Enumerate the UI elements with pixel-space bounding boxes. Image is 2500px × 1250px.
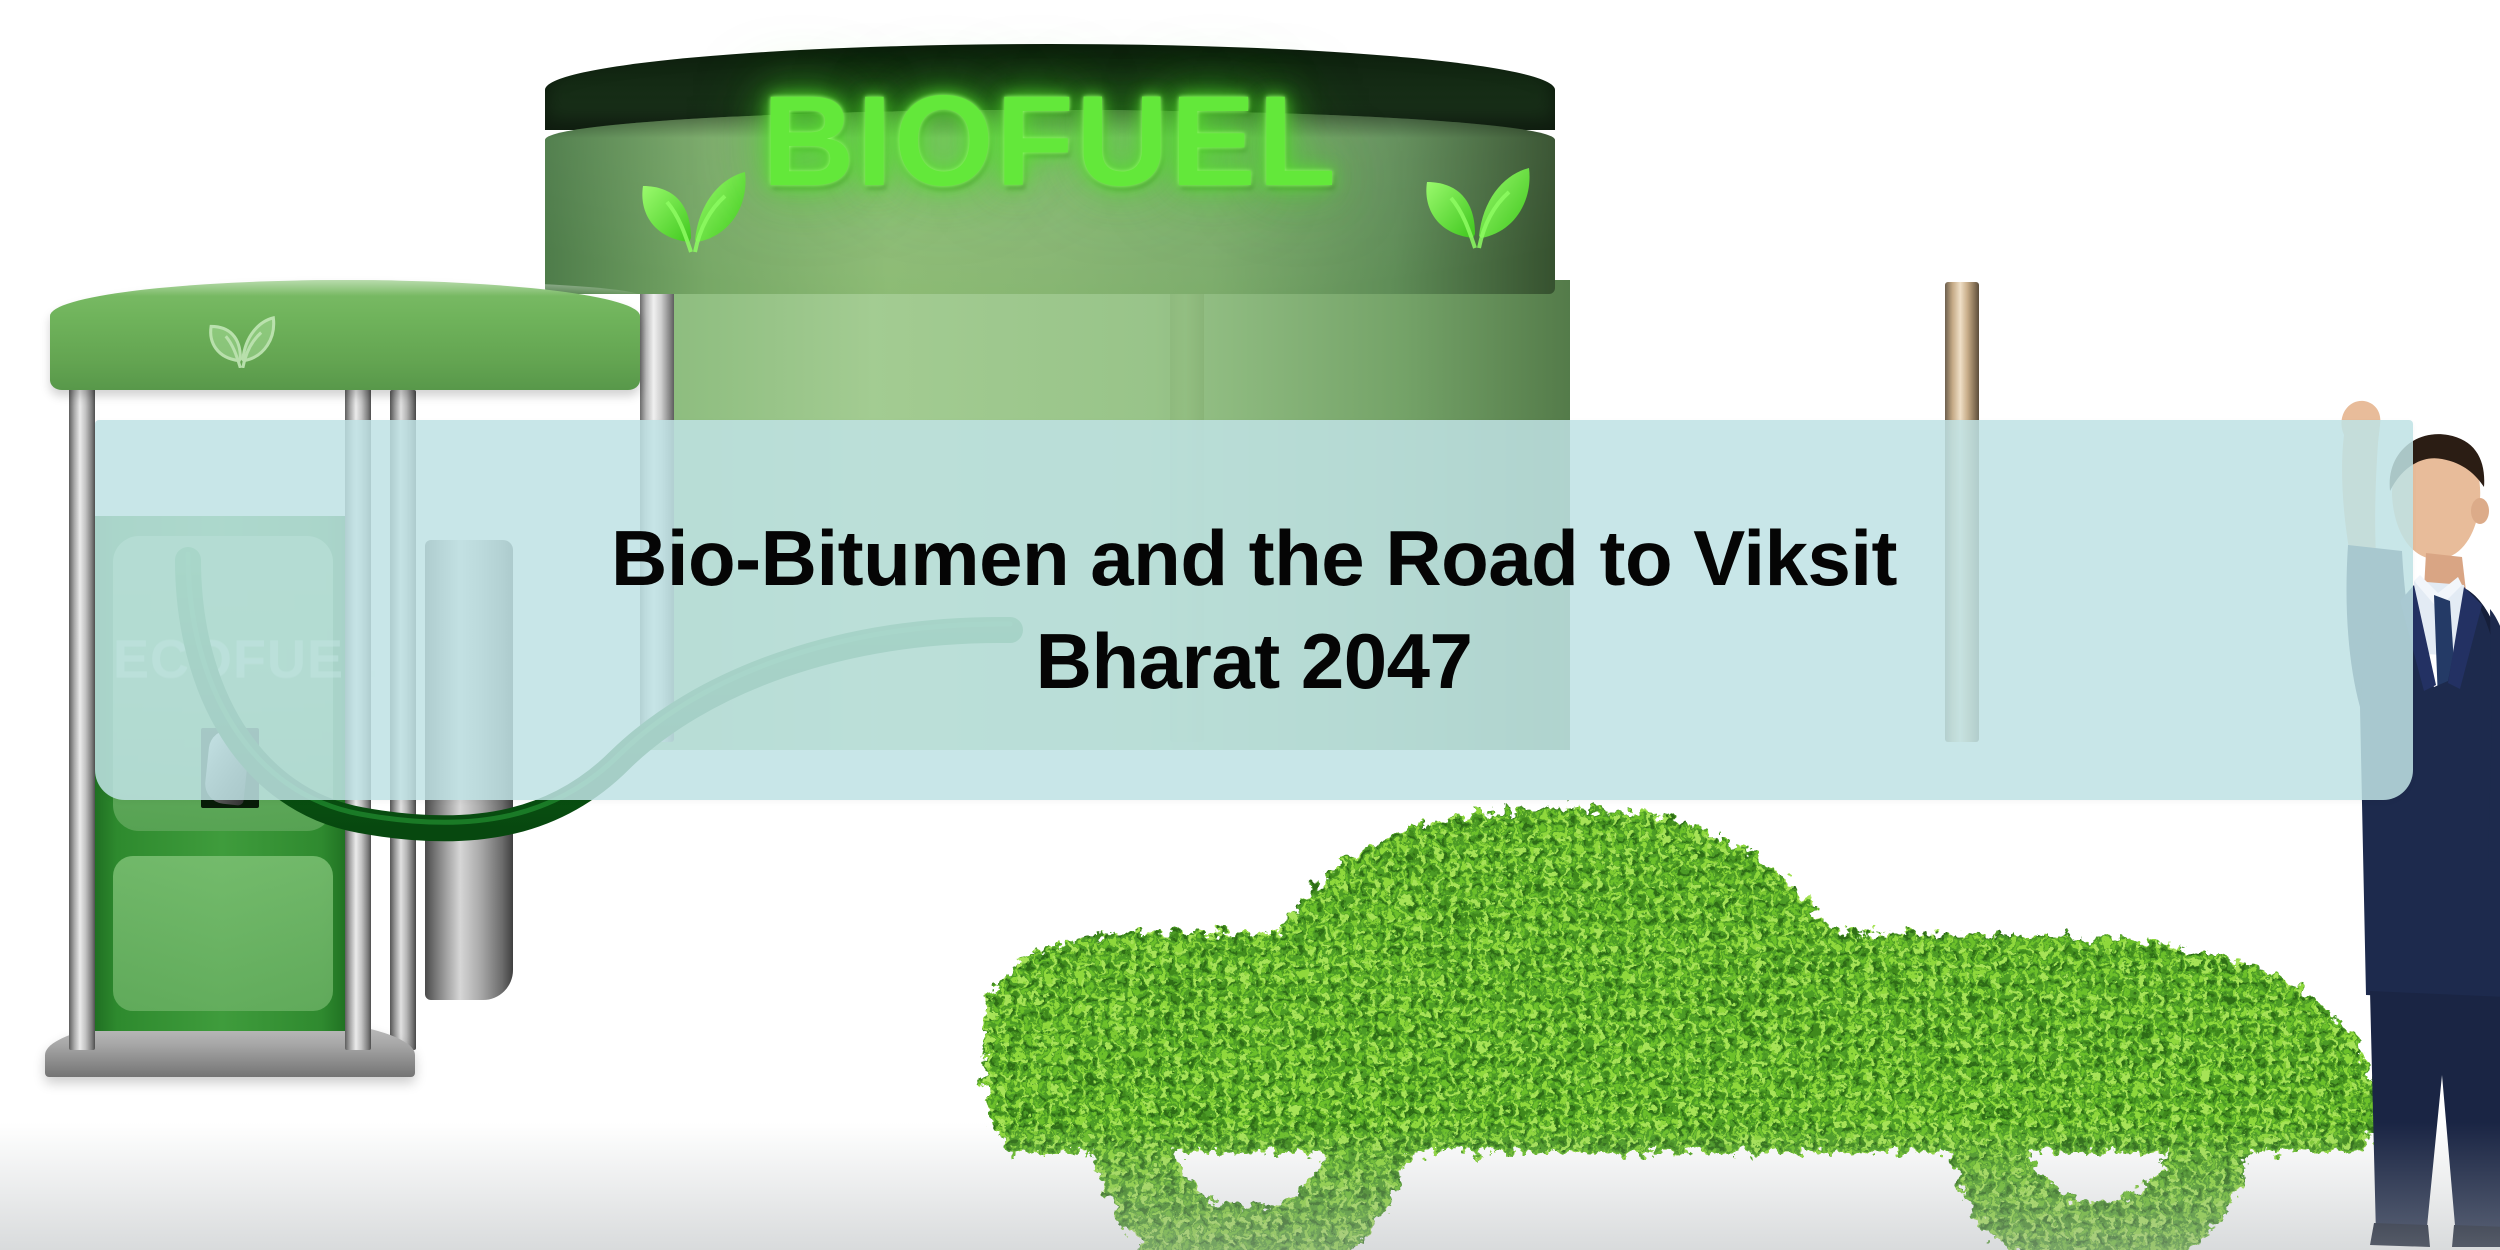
leaf-sprout-icon — [205, 302, 277, 373]
biofuel-sign-label: BIOFUEL — [545, 78, 1555, 206]
pump-lower-panel — [113, 856, 333, 1011]
poster-canvas: BIOFUEL ECOFUEL — [0, 0, 2500, 1250]
pump-canopy — [50, 280, 640, 390]
pump-post-left — [69, 380, 95, 1050]
biofuel-sign: BIOFUEL — [545, 44, 1555, 294]
title-banner: Bio-Bitumen and the Road to Viksit Bhara… — [95, 420, 2413, 800]
page-title: Bio-Bitumen and the Road to Viksit Bhara… — [529, 507, 1979, 713]
